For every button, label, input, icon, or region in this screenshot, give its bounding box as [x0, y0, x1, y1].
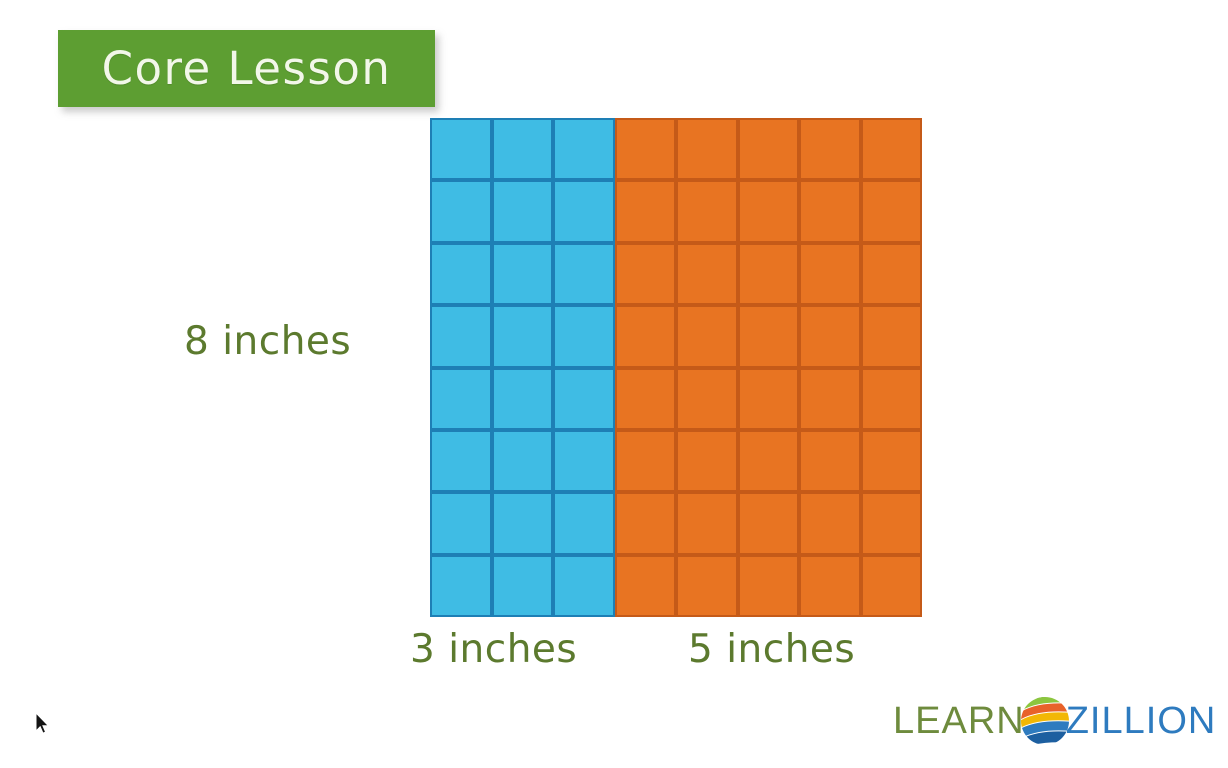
grid-row [430, 492, 922, 554]
core-lesson-banner-label: Core Lesson [102, 46, 392, 91]
grid-cell-orange [676, 492, 738, 554]
grid-cell-blue [553, 492, 615, 554]
grid-cell-blue [430, 430, 492, 492]
grid-cell-blue [553, 368, 615, 430]
core-lesson-banner: Core Lesson [58, 30, 435, 107]
grid-cell-blue [430, 492, 492, 554]
grid-cell-blue [430, 118, 492, 180]
grid-cell-orange [615, 118, 677, 180]
learnzillion-logo: LEARN ZILLION [893, 697, 1216, 745]
grid-cell-blue [430, 555, 492, 617]
grid-cell-blue [492, 555, 554, 617]
grid-cell-orange [861, 305, 923, 367]
height-label: 8 inches [184, 322, 351, 361]
logo-word-zillion: ZILLION [1066, 702, 1217, 740]
grid-cell-blue [553, 555, 615, 617]
grid-cell-orange [861, 368, 923, 430]
grid-cell-orange [799, 492, 861, 554]
grid-cell-orange [799, 243, 861, 305]
grid-cell-blue [492, 118, 554, 180]
grid-cell-blue [492, 305, 554, 367]
logo-word-learn: LEARN [893, 702, 1025, 740]
grid-cell-orange [799, 555, 861, 617]
grid-cell-blue [430, 305, 492, 367]
grid-row [430, 555, 922, 617]
grid-cell-blue [492, 368, 554, 430]
width-label-orange: 5 inches [688, 630, 855, 669]
grid-cell-orange [861, 118, 923, 180]
area-model-grid [430, 118, 922, 617]
grid-cell-orange [861, 430, 923, 492]
grid-cell-orange [676, 305, 738, 367]
grid-cell-blue [492, 243, 554, 305]
grid-cell-blue [492, 180, 554, 242]
grid-row [430, 430, 922, 492]
grid-cell-orange [676, 180, 738, 242]
grid-cell-orange [615, 430, 677, 492]
grid-cell-orange [861, 492, 923, 554]
grid-cell-orange [615, 305, 677, 367]
grid-cell-orange [861, 180, 923, 242]
grid-cell-orange [738, 118, 800, 180]
grid-cell-orange [676, 555, 738, 617]
grid-cell-orange [738, 368, 800, 430]
grid-cell-blue [430, 368, 492, 430]
grid-cell-orange [738, 492, 800, 554]
grid-cell-orange [799, 305, 861, 367]
grid-cell-orange [615, 180, 677, 242]
grid-cell-blue [553, 180, 615, 242]
grid-cell-orange [799, 368, 861, 430]
grid-cell-blue [553, 430, 615, 492]
grid-cell-orange [615, 555, 677, 617]
grid-row [430, 180, 922, 242]
grid-cell-blue [492, 492, 554, 554]
grid-cell-blue [430, 243, 492, 305]
grid-row [430, 305, 922, 367]
grid-cell-orange [861, 555, 923, 617]
grid-cell-blue [430, 180, 492, 242]
grid-cell-blue [553, 243, 615, 305]
grid-cell-orange [615, 243, 677, 305]
mouse-cursor [35, 712, 51, 736]
lesson-slide: Core Lesson 8 inches 3 inches 5 inches L… [0, 0, 1228, 768]
grid-cell-orange [799, 430, 861, 492]
width-label-blue: 3 inches [410, 630, 577, 669]
grid-cell-blue [492, 430, 554, 492]
grid-cell-orange [615, 368, 677, 430]
grid-row [430, 118, 922, 180]
grid-cell-orange [738, 305, 800, 367]
grid-cell-orange [738, 555, 800, 617]
grid-cell-orange [799, 180, 861, 242]
grid-cell-blue [553, 118, 615, 180]
grid-row [430, 243, 922, 305]
grid-cell-orange [799, 118, 861, 180]
grid-cell-orange [676, 430, 738, 492]
grid-cell-orange [615, 492, 677, 554]
grid-cell-orange [861, 243, 923, 305]
grid-cell-orange [676, 243, 738, 305]
grid-cell-orange [738, 430, 800, 492]
grid-cell-blue [553, 305, 615, 367]
grid-cell-orange [738, 180, 800, 242]
globe-icon [1019, 695, 1071, 747]
grid-row [430, 368, 922, 430]
grid-cell-orange [738, 243, 800, 305]
grid-cell-orange [676, 368, 738, 430]
grid-cell-orange [676, 118, 738, 180]
